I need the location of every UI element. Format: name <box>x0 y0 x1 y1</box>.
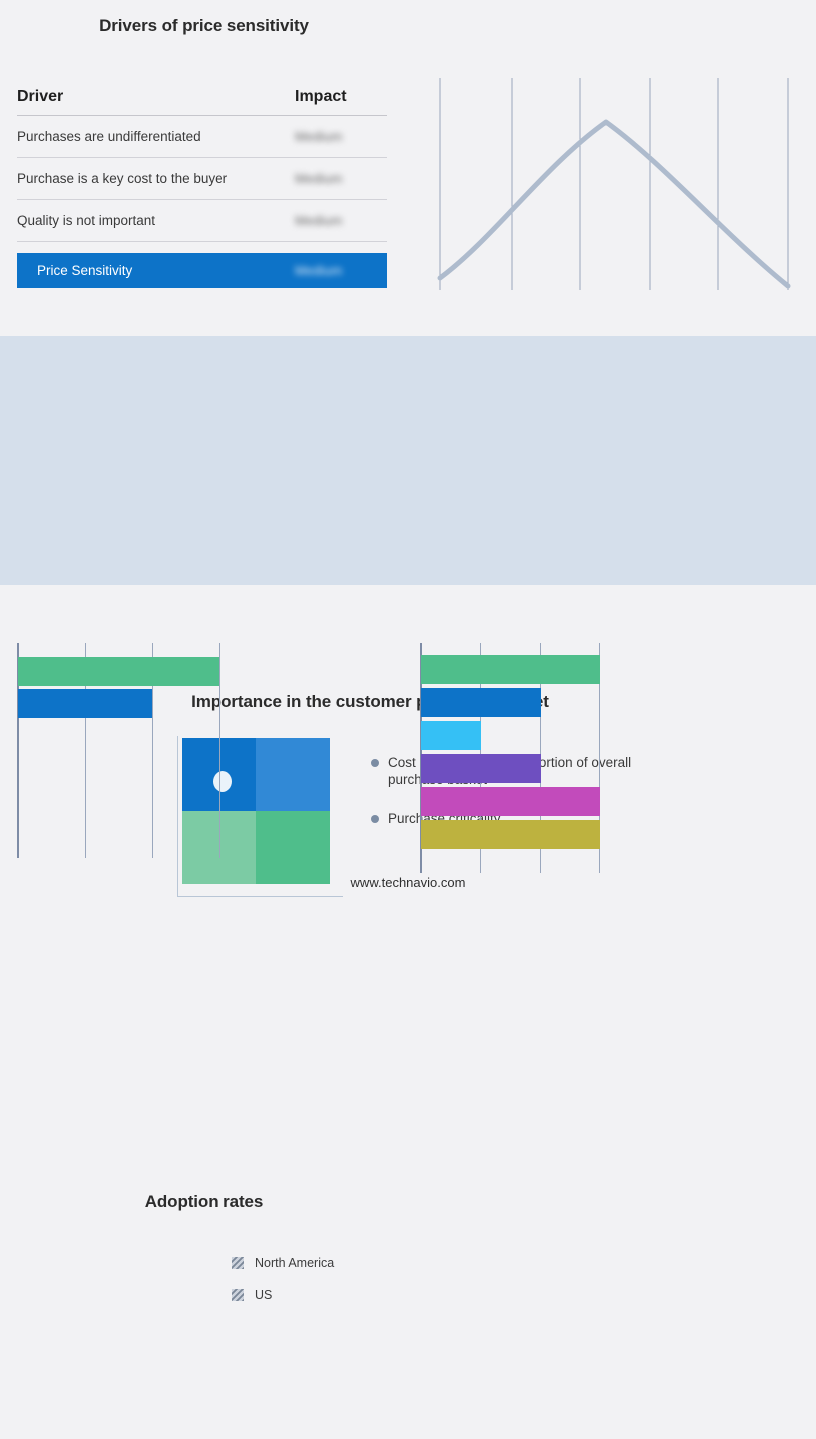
driver-name: Quality is not important <box>17 213 295 228</box>
driver-name: Purchases are undifferentiated <box>17 129 295 144</box>
adoption-rates-legend: North America US <box>232 1247 334 1311</box>
price-sensitivity-summary-row: Price Sensitivity Medium <box>17 253 387 288</box>
adoption-curve-path <box>440 122 788 286</box>
legend-item-label: North America <box>255 1256 334 1270</box>
footer-website-url: www.technavio.com <box>0 875 816 890</box>
hatch-swatch-icon <box>232 1257 244 1269</box>
bar-north-america <box>18 657 219 686</box>
drivers-table: Driver Impact Purchases are undifferenti… <box>17 88 387 288</box>
bar-regulatory-compliance <box>421 787 600 816</box>
impact-value-cell: Medium <box>295 170 387 188</box>
adoption-rates-panel-title: Adoption rates <box>0 1192 408 1212</box>
bar-quality <box>421 721 481 750</box>
drivers-panel-title: Drivers of price sensitivity <box>0 16 408 36</box>
legend-item: US <box>232 1279 334 1311</box>
adoption-rates-chart <box>0 585 408 902</box>
table-row: Purchases are undifferentiated Medium <box>17 116 387 158</box>
infographic-page: Drivers of price sensitivity Driver Impa… <box>0 0 816 902</box>
column-header-impact: Impact <box>295 88 387 106</box>
bar-price <box>421 688 541 717</box>
adoption-chart-gridline <box>219 643 220 858</box>
driver-name: Purchase is a key cost to the buyer <box>17 171 295 186</box>
adoption-rates-panel: Adoption rates North America US <box>0 585 408 902</box>
adoption-lifecycle-panel: Adoption lifecycle Innovators Early Adop… <box>408 0 816 336</box>
legend-item: North America <box>232 1247 334 1279</box>
impact-value-blurred: Medium <box>295 171 342 186</box>
table-row: Purchase is a key cost to the buyer Medi… <box>17 158 387 200</box>
bar-us <box>18 689 152 718</box>
summary-impact-cell: Medium <box>295 262 387 280</box>
legend-item-label: US <box>255 1288 272 1302</box>
hatch-swatch-icon <box>232 1289 244 1301</box>
summary-row-label: Price Sensitivity <box>37 263 295 278</box>
key-criteria-chart <box>408 585 816 902</box>
key-purchase-criteria-panel: Key purchase criteria Innovation Price <box>408 585 816 902</box>
column-header-driver: Driver <box>17 88 295 106</box>
importance-in-purchase-basket-panel: Importance in the customer purchase bask… <box>0 336 816 585</box>
impact-value-cell: Medium <box>295 212 387 230</box>
table-row: Quality is not important Medium <box>17 200 387 242</box>
lifecycle-gridlines <box>440 78 788 290</box>
drivers-of-price-sensitivity-panel: Drivers of price sensitivity Driver Impa… <box>0 0 408 336</box>
lifecycle-bell-curve-chart <box>424 66 800 290</box>
drivers-table-header: Driver Impact <box>17 88 387 116</box>
bar-service <box>421 820 600 849</box>
summary-impact-blurred: Medium <box>295 263 342 278</box>
impact-value-blurred: Medium <box>295 129 342 144</box>
bar-innovation <box>421 655 600 684</box>
impact-value-cell: Medium <box>295 128 387 146</box>
impact-value-blurred: Medium <box>295 213 342 228</box>
bar-relatability <box>421 754 541 783</box>
